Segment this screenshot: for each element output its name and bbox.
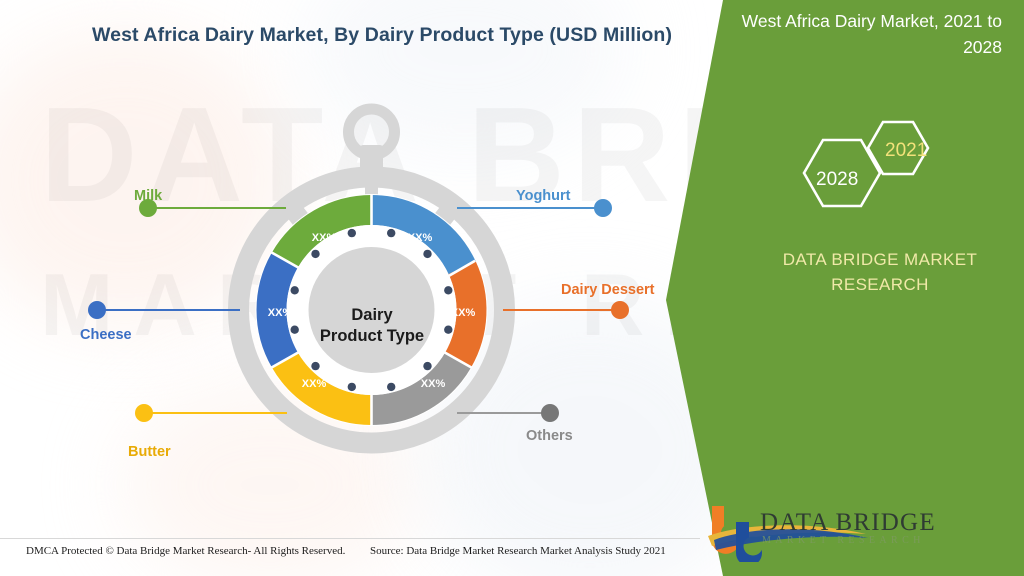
value-label-butter: XX% <box>302 378 327 390</box>
callout-dot-dairy-dessert <box>611 301 629 319</box>
value-label-milk: XX% <box>312 232 337 244</box>
callout-label-butter[interactable]: Butter <box>128 444 171 460</box>
value-label-yoghurt: XX% <box>408 232 433 244</box>
hexagon-label-2021: 2021 <box>885 140 927 162</box>
callout-label-cheese[interactable]: Cheese <box>80 327 132 343</box>
value-label-cheese: XX% <box>268 307 293 319</box>
value-label-others: XX% <box>421 378 446 390</box>
brand-caption: DATA BRIDGE MARKET RESEARCH <box>745 247 1015 297</box>
footer-dmca: DMCA Protected © Data Bridge Market Rese… <box>26 545 345 557</box>
callout-label-dairy-dessert[interactable]: Dairy Dessert <box>561 282 655 298</box>
hexagon-label-2028: 2028 <box>816 169 858 191</box>
infographic-canvas: DATA BRIDGE MARKET RESEARCH West Africa … <box>0 0 1024 576</box>
callout-label-yoghurt[interactable]: Yoghurt <box>516 188 571 204</box>
footer-divider <box>0 538 700 539</box>
callout-label-others[interactable]: Others <box>526 428 573 444</box>
callout-dot-yoghurt <box>594 199 612 217</box>
value-label-dairy-dessert: XX% <box>451 307 476 319</box>
callout-dot-others <box>541 404 559 422</box>
callout-label-milk[interactable]: Milk <box>134 188 162 204</box>
logo-tagline: MARKET RESEARCH <box>762 535 925 546</box>
brand-caption-line-1: DATA BRIDGE MARKET <box>745 247 1015 272</box>
callout-dot-cheese <box>88 301 106 319</box>
donut-chart: XX% XX% XX% XX% XX% XX% <box>214 105 529 455</box>
callout-dot-butter <box>135 404 153 422</box>
page-title: West Africa Dairy Market, By Dairy Produ… <box>92 24 672 47</box>
brand-caption-line-2: RESEARCH <box>745 272 1015 297</box>
year-hexagons <box>786 118 956 228</box>
panel-title: West Africa Dairy Market, 2021 to 2028 <box>702 8 1002 60</box>
center-disc <box>309 247 435 373</box>
logo-wordmark: DATA BRIDGE <box>760 509 936 537</box>
footer-source: Source: Data Bridge Market Research Mark… <box>370 545 666 557</box>
